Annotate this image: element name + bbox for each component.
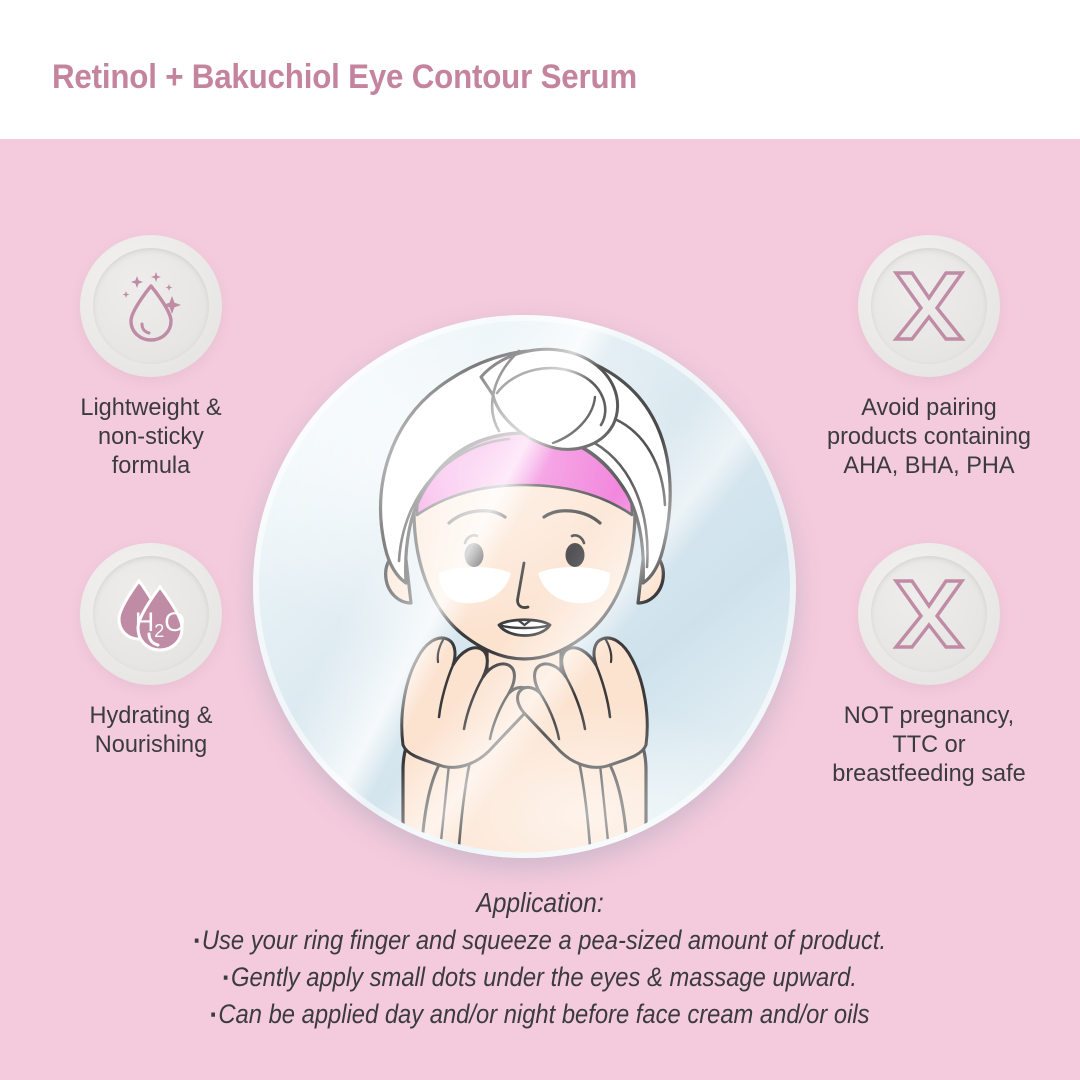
badge-avoid-acids [858, 235, 1000, 377]
woman-illustration [253, 315, 796, 858]
label-line: TTC or [809, 730, 1049, 759]
glass-circle-frame [253, 315, 796, 858]
label-line: breastfeeding safe [809, 759, 1049, 788]
water-droplet-sparkle-icon [109, 264, 193, 348]
application-step-text: Gently apply small dots under the eyes &… [231, 962, 857, 992]
application-section: Application: ▪Use your ring finger and s… [0, 884, 1080, 1033]
label-line: formula [31, 451, 271, 480]
badge-not-pregnancy-safe [858, 543, 1000, 685]
feature-hydrating: H2O Hydrating & Nourishing [26, 543, 276, 759]
label-line: Avoid pairing [809, 393, 1049, 422]
label-line: Lightweight & [31, 393, 271, 422]
page-title: Retinol + Bakuchiol Eye Contour Serum [52, 58, 637, 97]
feature-lightweight-label: Lightweight & non-sticky formula [31, 393, 271, 480]
application-step: ▪Use your ring finger and squeeze a pea-… [65, 922, 1015, 959]
bullet-icon: ▪ [210, 1005, 215, 1024]
feature-avoid-acids-label: Avoid pairing products containing AHA, B… [809, 393, 1049, 480]
feature-lightweight: Lightweight & non-sticky formula [26, 235, 276, 480]
badge-lightweight [80, 235, 222, 377]
application-step-text: Use your ring finger and squeeze a pea-s… [202, 925, 886, 955]
x-cross-icon [890, 267, 968, 345]
header-bar: Retinol + Bakuchiol Eye Contour Serum [0, 0, 1080, 139]
label-line: AHA, BHA, PHA [809, 451, 1049, 480]
label-line: non-sticky [31, 422, 271, 451]
bullet-icon: ▪ [223, 968, 228, 987]
x-cross-icon [890, 575, 968, 653]
feature-not-pregnancy-safe-label: NOT pregnancy, TTC or breastfeeding safe [809, 701, 1049, 788]
label-line: Hydrating & [31, 701, 271, 730]
label-line: NOT pregnancy, [809, 701, 1049, 730]
label-line: Nourishing [31, 730, 271, 759]
application-heading: Application: [65, 884, 1015, 922]
h2o-droplets-icon: H2O [108, 571, 194, 657]
application-step-text: Can be applied day and/or night before f… [218, 999, 869, 1029]
label-line: products containing [809, 422, 1049, 451]
feature-not-pregnancy-safe: NOT pregnancy, TTC or breastfeeding safe [804, 543, 1054, 788]
feature-avoid-acids: Avoid pairing products containing AHA, B… [804, 235, 1054, 480]
badge-hydrating: H2O [80, 543, 222, 685]
bullet-icon: ▪ [194, 931, 199, 950]
application-step: ▪Gently apply small dots under the eyes … [65, 959, 1015, 996]
feature-hydrating-label: Hydrating & Nourishing [31, 701, 271, 759]
application-step: ▪Can be applied day and/or night before … [65, 996, 1015, 1033]
